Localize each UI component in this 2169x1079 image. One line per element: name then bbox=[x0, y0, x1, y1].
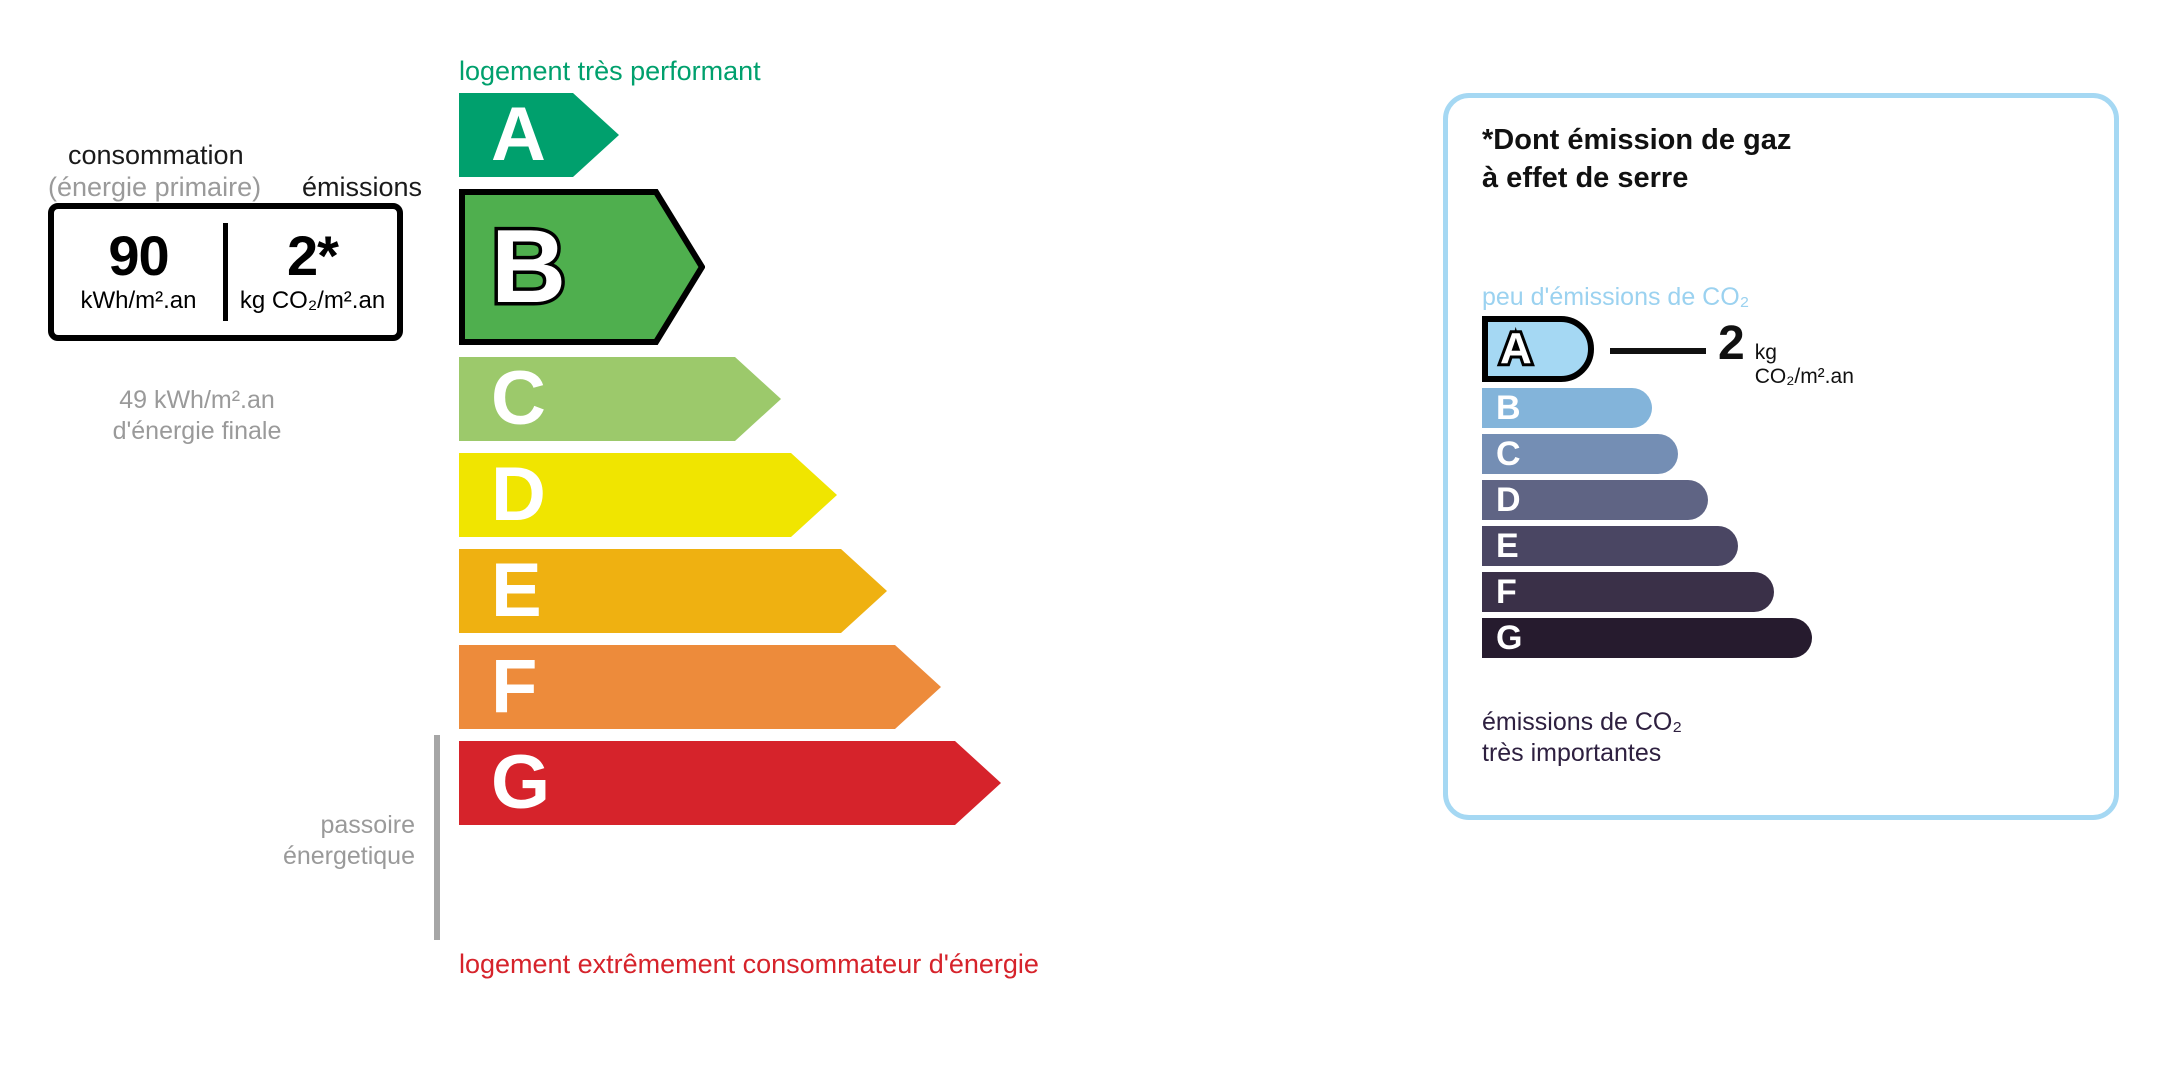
co2-letter-a: A bbox=[1500, 327, 1532, 371]
co2-value-unit: kg CO₂/m².an bbox=[1755, 341, 1854, 389]
energy-class-row-e: E bbox=[459, 549, 1001, 633]
energy-class-arrow-f: F bbox=[459, 645, 1001, 729]
co2-row-g: G bbox=[1482, 618, 1812, 658]
co2-panel: *Dont émission de gaz à effet de serre p… bbox=[1443, 93, 2119, 820]
consumption-unit: kWh/m².an bbox=[80, 287, 196, 315]
energy-class-letter-c: C bbox=[491, 361, 546, 437]
energy-class-arrows: ABCDEFG bbox=[459, 93, 1001, 837]
final-energy-note: 49 kWh/m².an d'énergie finale bbox=[72, 385, 322, 448]
consumption-value: 90 bbox=[108, 229, 168, 284]
energy-class-row-a: A bbox=[459, 93, 1001, 177]
energy-class-arrow-d: D bbox=[459, 453, 1001, 537]
scale-top-caption: logement très performant bbox=[459, 56, 761, 87]
passoire-bracket-line bbox=[434, 735, 440, 940]
value-box: 90 kWh/m².an 2* kg CO₂/m².an bbox=[48, 203, 403, 341]
energy-class-letter-e: E bbox=[491, 553, 542, 629]
co2-bar-g: G bbox=[1482, 618, 1812, 658]
co2-class-bars: A 2 kg CO₂/m².an BCDEFG bbox=[1482, 316, 1812, 664]
emissions-value: 2* bbox=[287, 229, 338, 284]
co2-panel-title: *Dont émission de gaz à effet de serre bbox=[1482, 122, 1791, 197]
primary-energy-header-label: (énergie primaire) bbox=[48, 172, 261, 203]
emissions-value-cell: 2* kg CO₂/m².an bbox=[228, 209, 397, 335]
co2-top-caption: peu d'émissions de CO₂ bbox=[1482, 283, 1749, 312]
emissions-unit: kg CO₂/m².an bbox=[240, 287, 385, 315]
energy-class-row-c: C bbox=[459, 357, 1001, 441]
co2-bar-b: B bbox=[1482, 388, 1652, 428]
co2-selected-badge-a: A bbox=[1482, 316, 1594, 382]
co2-bar-e: E bbox=[1482, 526, 1738, 566]
emissions-header-label: émissions bbox=[302, 172, 422, 203]
co2-letter-e: E bbox=[1496, 529, 1519, 563]
co2-bottom-caption: émissions de CO₂ très importantes bbox=[1482, 707, 1682, 770]
energy-class-letter-f: F bbox=[491, 649, 537, 725]
scale-bottom-caption: logement extrêmement consommateur d'éner… bbox=[459, 949, 1039, 980]
co2-leader-line bbox=[1610, 348, 1706, 354]
co2-row-a: A 2 kg CO₂/m².an bbox=[1482, 316, 1812, 382]
co2-value-group: 2 kg CO₂/m².an bbox=[1718, 320, 1854, 389]
co2-letter-b: B bbox=[1496, 391, 1521, 425]
energy-class-letter-d: D bbox=[491, 457, 546, 533]
co2-row-e: E bbox=[1482, 526, 1812, 566]
co2-letter-c: C bbox=[1496, 437, 1521, 471]
energy-class-arrow-b: B bbox=[459, 189, 1001, 345]
energy-class-arrow-e: E bbox=[459, 549, 1001, 633]
energy-class-letter-g: G bbox=[491, 745, 550, 821]
energy-class-row-d: D bbox=[459, 453, 1001, 537]
co2-letter-f: F bbox=[1496, 575, 1517, 609]
energy-class-row-g: G bbox=[459, 741, 1001, 825]
co2-row-f: F bbox=[1482, 572, 1812, 612]
co2-bar-d: D bbox=[1482, 480, 1708, 520]
energy-class-arrow-a: A bbox=[459, 93, 1001, 177]
energy-class-letter-a: A bbox=[491, 97, 546, 173]
energy-class-letter-b: B bbox=[491, 215, 566, 319]
energy-class-row-b: B bbox=[459, 189, 1001, 345]
co2-letter-d: D bbox=[1496, 483, 1521, 517]
co2-bar-c: C bbox=[1482, 434, 1678, 474]
energy-class-row-f: F bbox=[459, 645, 1001, 729]
co2-value: 2 bbox=[1718, 320, 1745, 368]
co2-row-d: D bbox=[1482, 480, 1812, 520]
energy-class-arrow-g: G bbox=[459, 741, 1001, 825]
energy-class-arrow-c: C bbox=[459, 357, 1001, 441]
consumption-value-cell: 90 kWh/m².an bbox=[54, 209, 223, 335]
consumption-header-label: consommation bbox=[68, 140, 244, 171]
co2-row-b: B bbox=[1482, 388, 1812, 428]
co2-row-c: C bbox=[1482, 434, 1812, 474]
co2-bar-f: F bbox=[1482, 572, 1774, 612]
co2-letter-g: G bbox=[1496, 621, 1522, 655]
passoire-label: passoire énergetique bbox=[240, 810, 415, 873]
